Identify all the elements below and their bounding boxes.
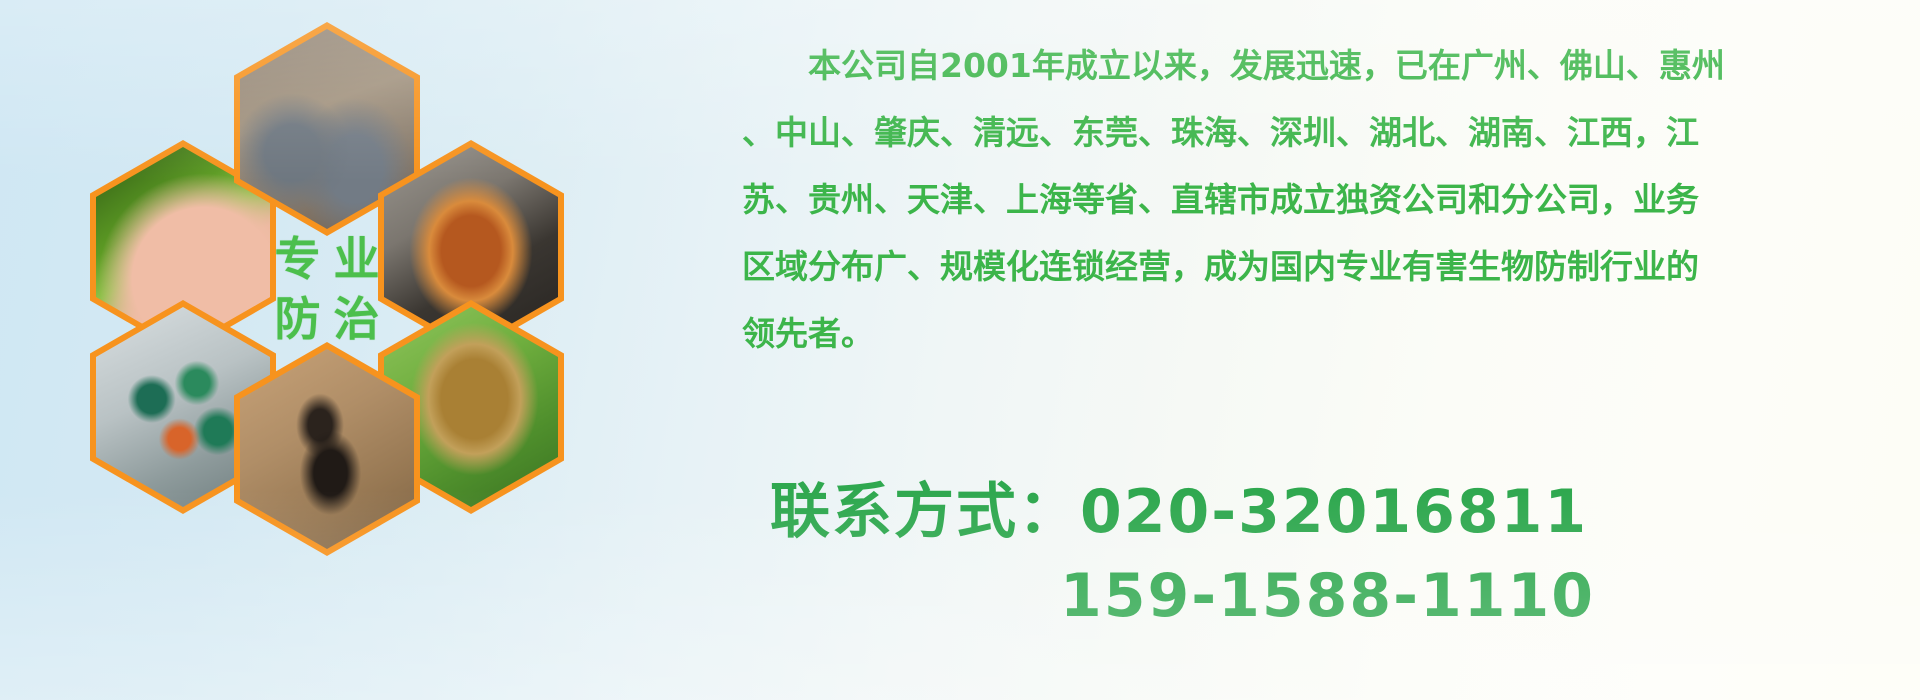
contact-phone-mobile[interactable]: 159-1588-1110 bbox=[770, 554, 1920, 638]
intro-line-1: 本公司自2001年成立以来，发展迅速，已在广州、佛山、惠州 bbox=[742, 32, 1902, 99]
intro-line-4: 区域分布广、规模化连锁经营，成为国内专业有害生物防制行业的 bbox=[742, 233, 1902, 300]
contact-block: 联系方式：020-32016811 159-1588-1110 bbox=[770, 470, 1920, 638]
contact-phone-landline[interactable]: 联系方式：020-32016811 bbox=[770, 470, 1920, 554]
company-intro-paragraph: 本公司自2001年成立以来，发展迅速，已在广州、佛山、惠州 、中山、肇庆、清远、… bbox=[742, 32, 1902, 367]
intro-line-2: 、中山、肇庆、清远、东莞、珠海、深圳、湖北、湖南、江西，江 bbox=[742, 99, 1902, 166]
promo-banner: 专业 防治 本公司自2001年成立以来，发展迅速，已在广州、佛山、惠州 、中山、… bbox=[0, 0, 1920, 700]
intro-line-5: 领先者。 bbox=[742, 300, 1902, 367]
honeycomb-collage: 专业 防治 bbox=[88, 0, 588, 700]
slogan-line-1: 专业 bbox=[262, 236, 393, 282]
slogan-line-2: 防治 bbox=[262, 296, 393, 342]
intro-line-3: 苏、贵州、天津、上海等省、直辖市成立独资公司和分公司，业务 bbox=[742, 166, 1902, 233]
